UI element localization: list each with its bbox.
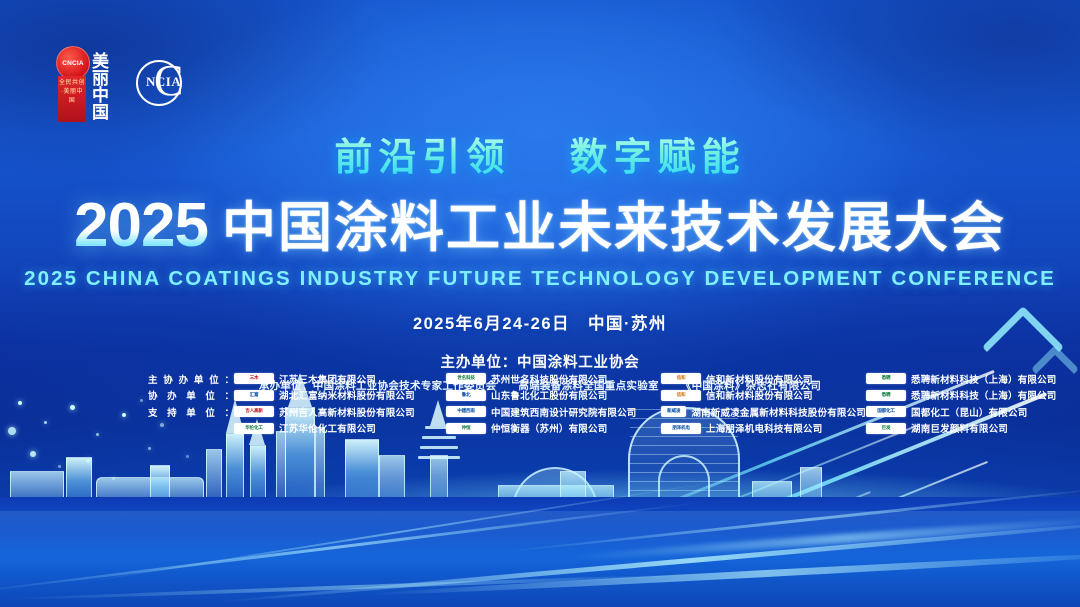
building (345, 439, 379, 511)
pagoda-tier (418, 456, 460, 459)
sponsor-name: 苏州吉人高新材料股份有限公司 (279, 405, 415, 419)
sponsor-item: 华伦化工 江苏华伦化工有限公司 (234, 421, 446, 435)
building (206, 449, 222, 511)
light-ray (536, 491, 871, 607)
sponsor-row: 主协办单位： 三木 江苏三木集团有限公司 世名科技 苏州世名科技股份有限公司 信… (0, 371, 1080, 386)
sponsor-name: 江苏三木集团有限公司 (279, 372, 376, 386)
gate-inner-arch (658, 455, 710, 511)
slogan-part1: 前沿引领 (334, 137, 510, 179)
building (96, 477, 204, 511)
sponsor-item: 巨发 湖南巨发颜料有限公司 (866, 421, 1008, 435)
banner-content: 前沿引领 数字赋能 2025 中国涂料工业未来技术发展大会 2025 CHINA… (0, 0, 1080, 393)
sponsor-name: 湖南新威凌金属新材料科技股份有限公司 (691, 405, 866, 419)
building (800, 467, 822, 511)
sponsor-item: 仲恒 仲恒衡器（苏州）有限公司 (446, 421, 661, 435)
building (315, 427, 325, 511)
sponsor-name: 信和新材料股份有限公司 (706, 372, 813, 386)
sponsor-logo-icon: 巨发 (866, 423, 906, 434)
sponsor-name: 国都化工（昆山）有限公司 (911, 405, 1027, 419)
sponsor-item: 吉人高新 苏州吉人高新材料股份有限公司 (234, 405, 446, 419)
sponsor-item: 信和 信和新材料股份有限公司 (661, 372, 866, 386)
sponsor-logo-icon: 世名科技 (446, 373, 486, 384)
sponsor-logo-icon: 仲恒 (446, 423, 486, 434)
sponsor-row-label: 支持单位： (148, 405, 234, 419)
building (150, 465, 170, 511)
sponsor-item: 新威凌 湖南新威凌金属新材料科技股份有限公司 (661, 405, 866, 419)
conference-banner: CNCIA 全民共创·美丽中国 美丽中国 C NCIA 前沿引领 数字赋能 20… (0, 0, 1080, 607)
sponsor-name: 悉聘新材料科技（上海）有限公司 (911, 388, 1057, 402)
sponsor-name: 湖南巨发颜料有限公司 (911, 421, 1008, 435)
sponsor-logo-icon: 汇富 (234, 390, 274, 401)
sponsor-row: 协办单位： 汇富 湖北汇富纳米材料股份有限公司 鲁北 山东鲁北化工股份有限公司 … (0, 388, 1080, 403)
sponsor-name: 江苏华伦化工有限公司 (279, 421, 376, 435)
title-year: 2025 (74, 195, 208, 257)
sponsor-name: 中国建筑西南设计研究院有限公司 (491, 405, 637, 419)
light-streak (0, 500, 710, 595)
sponsor-item: 世名科技 苏州世名科技股份有限公司 (446, 372, 661, 386)
sponsor-item: 信和 信和新材料股份有限公司 (661, 388, 866, 402)
building (276, 431, 286, 511)
sponsor-logo-icon: 三木 (234, 373, 274, 384)
main-title: 2025 中国涂料工业未来技术发展大会 (0, 195, 1080, 257)
sponsor-list: 主协办单位： 三木 江苏三木集团有限公司 世名科技 苏州世名科技股份有限公司 信… (0, 371, 1080, 437)
sponsor-name: 苏州世名科技股份有限公司 (491, 372, 607, 386)
sponsor-name: 上海朋泽机电科技有限公司 (706, 421, 822, 435)
sponsor-logo-icon: 华伦化工 (234, 423, 274, 434)
light-streak (368, 549, 1080, 598)
sponsor-item: 汇富 湖北汇富纳米材料股份有限公司 (234, 388, 446, 402)
ground-plane (0, 497, 1080, 607)
sponsor-logo-icon: 新威凌 (661, 406, 686, 417)
sponsor-logo-icon: 国都化工 (866, 406, 906, 417)
building (379, 455, 405, 511)
building (10, 471, 64, 511)
sponsor-logo-icon: 信和 (661, 373, 701, 384)
date-location: 2025年6月24-26日 中国·苏州 (0, 310, 1080, 334)
sponsor-item: 中建西南 中国建筑西南设计研究院有限公司 (446, 405, 661, 419)
building (226, 433, 244, 511)
sponsor-logo-icon: 信和 (661, 390, 701, 401)
pagoda-body (430, 455, 448, 511)
sponsor-item: 国都化工 国都化工（昆山）有限公司 (866, 405, 1027, 419)
light-streak (69, 479, 731, 586)
building (498, 485, 614, 511)
light-streak (498, 485, 1080, 553)
sponsor-name: 湖北汇富纳米材料股份有限公司 (279, 388, 415, 402)
building (752, 481, 792, 511)
sponsor-name: 悉聘新材料科技（上海）有限公司 (911, 372, 1057, 386)
sponsor-logo-icon: 悉聘 (866, 390, 906, 401)
light-ray (520, 424, 919, 587)
sponsor-logo-icon: 朋泽机电 (661, 423, 701, 434)
slogan-part2: 数字赋能 (570, 137, 746, 179)
horizon-glow (0, 451, 1080, 511)
title-chinese: 中国涂料工业未来技术发展大会 (222, 200, 1006, 257)
ground-reflection (0, 511, 1080, 607)
pagoda-tier (420, 446, 458, 449)
light-streaks (0, 457, 1080, 607)
opera-house (512, 467, 598, 511)
sponsor-logo-icon: 鲁北 (446, 390, 486, 401)
sponsor-logo-icon: 吉人高新 (234, 406, 274, 417)
title-english: 2025 CHINA COATINGS INDUSTRY FUTURE TECH… (0, 267, 1080, 291)
sponsor-item: 悉聘 悉聘新材料科技（上海）有限公司 (866, 372, 1057, 386)
sponsor-item: 三木 江苏三木集团有限公司 (234, 372, 446, 386)
sponsor-item: 悉聘 悉聘新材料科技（上海）有限公司 (866, 388, 1057, 402)
sponsor-row-label: 协办单位： (148, 388, 234, 402)
light-streak (218, 517, 1080, 605)
light-ray (552, 552, 831, 607)
light-streak (562, 514, 1080, 562)
sponsor-row-label: 主协办单位： (148, 372, 234, 386)
light-streak (0, 573, 713, 602)
sponsor-name: 山东鲁北化工股份有限公司 (491, 388, 607, 402)
sponsor-item: 鲁北 山东鲁北化工股份有限公司 (446, 388, 661, 402)
light-ray (542, 461, 988, 607)
host-organization: 主办单位：中国涂料工业协会 (0, 351, 1080, 372)
sponsor-name: 信和新材料股份有限公司 (706, 388, 813, 402)
sponsor-name: 仲恒衡器（苏州）有限公司 (491, 421, 607, 435)
sponsor-logo-icon: 悉聘 (866, 373, 906, 384)
building (560, 471, 586, 511)
building (66, 457, 92, 511)
sponsor-item: 朋泽机电 上海朋泽机电科技有限公司 (661, 421, 866, 435)
slogan: 前沿引领 数字赋能 (0, 126, 1080, 181)
building (250, 445, 266, 511)
sponsor-row: 华伦化工 江苏华伦化工有限公司 仲恒 仲恒衡器（苏州）有限公司 朋泽机电 上海朋… (0, 421, 1080, 436)
sponsor-logo-icon: 中建西南 (446, 406, 486, 417)
sponsor-row: 支持单位： 吉人高新 苏州吉人高新材料股份有限公司 中建西南 中国建筑西南设计研… (0, 404, 1080, 419)
